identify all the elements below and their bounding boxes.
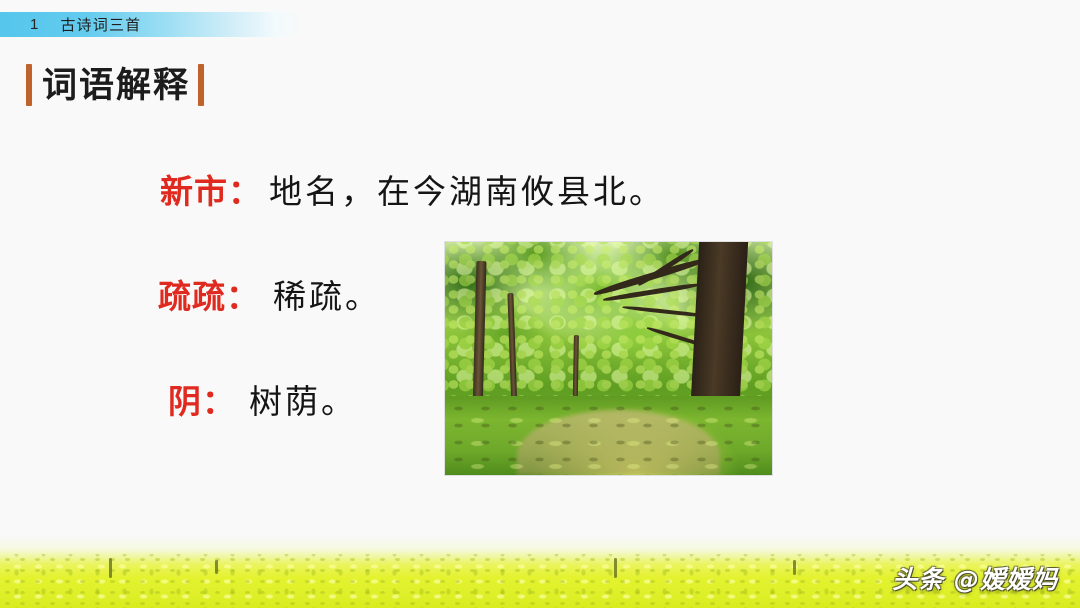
definition-colon: ： (202, 375, 235, 423)
canola-stalk (793, 560, 796, 575)
canola-stalk (215, 560, 218, 574)
definition-term: 阴 (168, 375, 202, 423)
section-heading-label: 词语解释 (32, 68, 198, 103)
definition-colon: ： (228, 165, 261, 213)
definition-term: 新市 (160, 165, 228, 213)
slide-root: 1 古诗词三首 词语解释 新市 ： 地名，在今湖南攸县北。 疏疏 ： 稀疏。 阴… (0, 0, 1080, 608)
definition-meaning: 树荫。 (249, 375, 357, 423)
heading-rule-right-icon (198, 64, 204, 106)
definition-meaning: 稀疏。 (273, 270, 381, 318)
photo-dappled-light (445, 400, 772, 475)
definition-row: 新市 ： 地名，在今湖南攸县北。 (160, 165, 852, 217)
section-heading: 词语解释 (26, 58, 204, 112)
definition-colon: ： (226, 270, 259, 318)
definition-term: 疏疏 (158, 270, 226, 318)
chapter-title: 古诗词三首 (60, 14, 141, 35)
chapter-number: 1 (30, 16, 38, 33)
watermark: 头条 @嫒嫒妈 (892, 560, 1058, 596)
tree-shade-photo (445, 242, 772, 475)
canola-stalk (614, 558, 617, 578)
chapter-bar: 1 古诗词三首 (0, 12, 300, 37)
canola-stalk (109, 558, 112, 578)
definition-meaning: 地名，在今湖南攸县北。 (269, 165, 665, 213)
